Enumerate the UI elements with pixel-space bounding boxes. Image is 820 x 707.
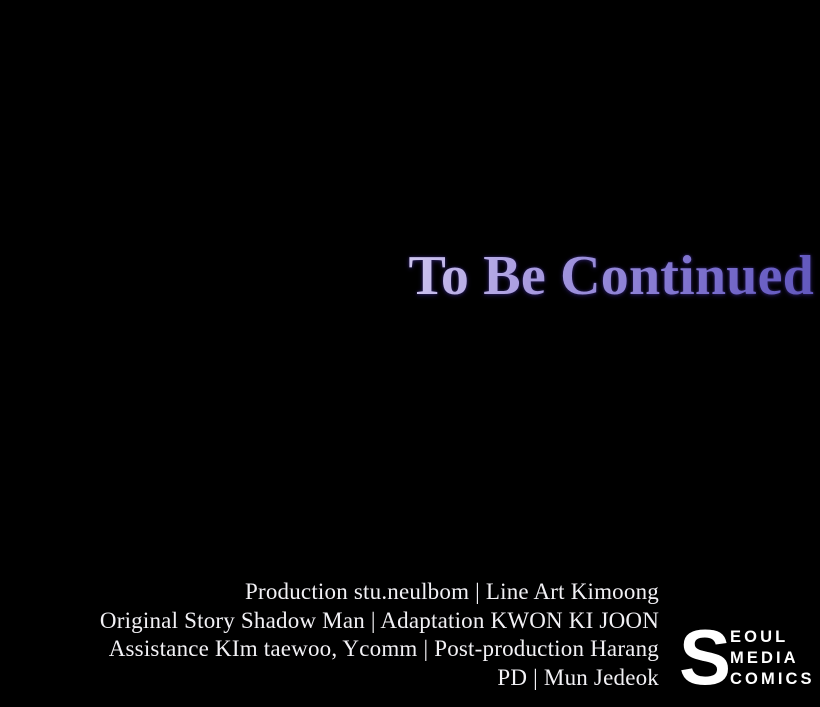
- title-text: To Be Continued: [409, 248, 815, 304]
- comic-end-card: To Be Continued Production stu.neulbom |…: [0, 0, 820, 707]
- to-be-continued-title: To Be Continued: [0, 248, 814, 304]
- logo-monogram-s: S: [679, 624, 729, 691]
- logo-word-media: MEDIA: [730, 648, 815, 669]
- credit-line-pd: PD | Mun Jedeok: [0, 664, 659, 693]
- credits-block: Production stu.neulbom | Line Art Kimoon…: [0, 578, 659, 692]
- credit-line-assistance: Assistance KIm taewoo, Ycomm | Post-prod…: [0, 635, 659, 664]
- logo-word-comics: COMICS: [730, 669, 815, 690]
- logo-wordmark: EOUL MEDIA COMICS: [730, 627, 815, 690]
- credit-line-original-story: Original Story Shadow Man | Adaptation K…: [0, 607, 659, 636]
- logo-word-seoul: EOUL: [730, 627, 815, 648]
- credit-line-production: Production stu.neulbom | Line Art Kimoon…: [0, 578, 659, 607]
- seoul-media-comics-logo: S EOUL MEDIA COMICS: [679, 626, 815, 691]
